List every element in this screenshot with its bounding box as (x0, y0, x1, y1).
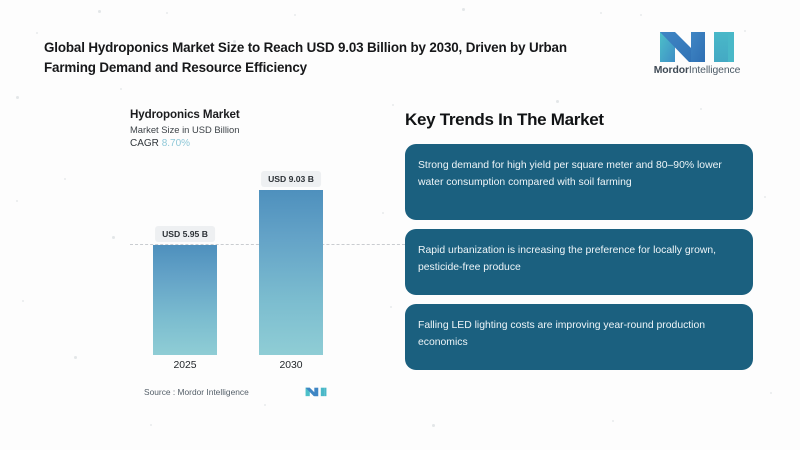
chart-source-row: Source : Mordor Intelligence (144, 386, 392, 397)
cagr-value: 8.70% (162, 138, 190, 149)
decorative-dot (612, 420, 614, 422)
chart-subtitle: Market Size in USD Billion (130, 124, 392, 135)
bar-value-label-2025: USD 5.95 B (155, 226, 215, 242)
decorative-dot (640, 14, 642, 16)
bar-group-2030[interactable]: USD 9.03 B (259, 190, 323, 355)
bar-value-label-2030: USD 9.03 B (261, 171, 321, 187)
page-title: Global Hydroponics Market Size to Reach … (44, 38, 619, 79)
chart-panel: Hydroponics Market Market Size in USD Bi… (130, 108, 392, 404)
decorative-dot (264, 404, 266, 406)
chart-cagr: CAGR 8.70% (130, 138, 392, 149)
brand-wordmark: MordorIntelligence (651, 65, 743, 76)
decorative-dot (744, 30, 746, 32)
slide-canvas: Global Hydroponics Market Size to Reach … (0, 0, 800, 450)
decorative-dot (64, 178, 66, 180)
decorative-dot (16, 200, 18, 202)
brand-name-light: Intelligence (689, 65, 740, 76)
x-axis-label-2030: 2030 (259, 360, 323, 371)
decorative-dot (16, 96, 19, 99)
chart-title: Hydroponics Market (130, 108, 392, 121)
trend-card[interactable]: Strong demand for high yield per square … (405, 144, 753, 220)
bar-chart-plot: USD 5.95 B USD 9.03 B (130, 163, 392, 355)
key-trends-heading: Key Trends In The Market (405, 110, 753, 130)
decorative-dot (294, 14, 296, 16)
decorative-dot (432, 424, 435, 427)
decorative-dot (556, 100, 559, 103)
bar-2025[interactable] (153, 245, 217, 355)
decorative-dot (120, 88, 122, 90)
decorative-dot (112, 236, 115, 239)
brand-logo: MordorIntelligence (651, 29, 743, 81)
mordor-m-logo-icon (658, 29, 736, 62)
decorative-dot (600, 12, 602, 14)
decorative-dot (764, 196, 766, 198)
key-trends-panel: Key Trends In The Market Strong demand f… (405, 110, 753, 379)
decorative-dot (770, 392, 772, 394)
source-text: Source : Mordor Intelligence (144, 387, 249, 397)
decorative-dot (22, 300, 24, 302)
decorative-dot (36, 32, 38, 34)
cagr-label: CAGR (130, 138, 159, 149)
trend-card[interactable]: Falling LED lighting costs are improving… (405, 304, 753, 370)
decorative-dot (462, 8, 465, 11)
x-axis-label-2025: 2025 (153, 360, 217, 371)
trend-card[interactable]: Rapid urbanization is increasing the pre… (405, 229, 753, 295)
decorative-dot (392, 104, 394, 106)
brand-name-bold: Mordor (654, 65, 689, 76)
decorative-dot (98, 10, 101, 13)
decorative-dot (150, 424, 152, 426)
bar-group-2025[interactable]: USD 5.95 B (153, 245, 217, 355)
decorative-dot (166, 12, 168, 14)
decorative-dot (74, 356, 77, 359)
mordor-m-logo-icon (305, 386, 327, 397)
bar-2030[interactable] (259, 190, 323, 355)
